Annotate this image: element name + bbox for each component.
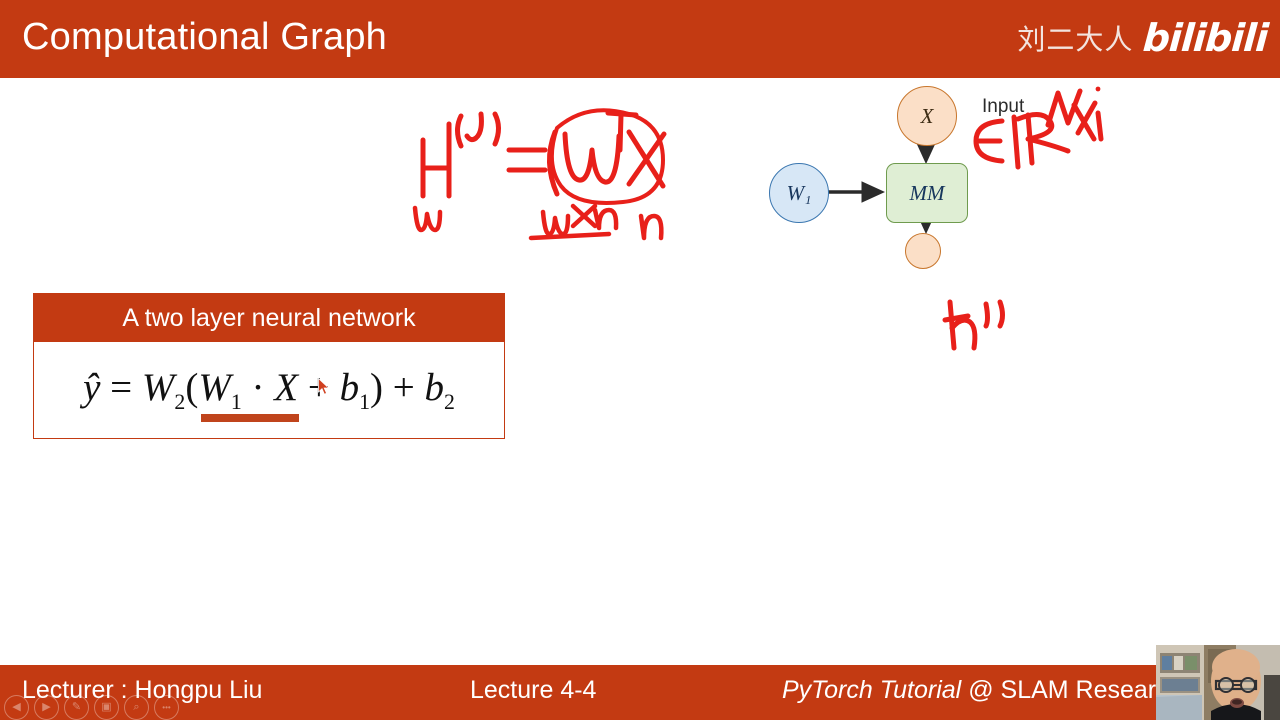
graph-node-w1[interactable]: W₁ xyxy=(769,163,829,223)
computational-graph: X W₁ MM Input xyxy=(760,78,1140,288)
presentation-controls[interactable]: ◀ ▶ ✎ ▣ ⌕ ••• xyxy=(4,695,179,720)
footer-course-title: PyTorch Tutorial @ SLAM Resear xyxy=(782,676,1156,705)
graph-node-mm[interactable]: MM xyxy=(886,163,968,223)
slide-overview-glyph: ▣ xyxy=(101,702,111,713)
graph-input-label: Input xyxy=(982,96,1024,118)
next-slide-icon[interactable]: ▶ xyxy=(34,695,59,720)
graph-node-x-label: X xyxy=(921,104,934,129)
callout-title: A two layer neural network xyxy=(122,304,415,333)
footer-lecture-number: Lecture 4-4 xyxy=(470,676,596,705)
mouse-cursor xyxy=(318,378,330,396)
slide-overview-icon[interactable]: ▣ xyxy=(94,695,119,720)
pen-tool-glyph: ✎ xyxy=(72,702,81,713)
two-layer-network-callout: A two layer neural network ŷ = W2(W1 · X… xyxy=(33,293,505,439)
handwritten-matrix-formula xyxy=(405,88,695,248)
more-options-icon[interactable]: ••• xyxy=(154,695,179,720)
webcam-video-frame xyxy=(1156,645,1280,720)
slide-footer-bar: Lecturer : Hongpu Liu Lecture 4-4 PyTorc… xyxy=(0,665,1280,720)
bilibili-logo: bilibili xyxy=(1142,19,1269,57)
graph-node-x[interactable]: X xyxy=(897,86,957,146)
graph-node-output[interactable] xyxy=(905,233,941,269)
zoom-tool-glyph: ⌕ xyxy=(133,702,139,713)
page-title: Computational Graph xyxy=(22,16,387,59)
footer-course-affiliation: @ SLAM Resear xyxy=(961,676,1156,704)
graph-node-w1-label: W₁ xyxy=(787,181,812,206)
pen-tool-icon[interactable]: ✎ xyxy=(64,695,89,720)
previous-slide-glyph: ◀ xyxy=(12,702,20,713)
more-options-glyph: ••• xyxy=(162,704,170,712)
footer-course-name: PyTorch Tutorial xyxy=(782,676,961,704)
network-formula: ŷ = W2(W1 · X + b1) + b2 xyxy=(83,365,455,415)
zoom-tool-icon[interactable]: ⌕ xyxy=(124,695,149,720)
handwritten-output-label xyxy=(942,296,1022,358)
webcam-overlay[interactable] xyxy=(1156,645,1280,720)
channel-branding: 刘二大人 bilibili xyxy=(1017,18,1268,58)
slide-canvas: X W₁ MM Input xyxy=(0,78,1280,665)
previous-slide-icon[interactable]: ◀ xyxy=(4,695,29,720)
channel-name: 刘二大人 xyxy=(1017,18,1133,58)
callout-header: A two layer neural network xyxy=(34,294,504,342)
callout-body: ŷ = W2(W1 · X + b1) + b2 xyxy=(34,342,504,438)
slide-header-bar: Computational Graph 刘二大人 bilibili xyxy=(0,0,1280,78)
graph-node-mm-label: MM xyxy=(910,181,945,206)
formula-emphasis-underline xyxy=(201,414,299,422)
next-slide-glyph: ▶ xyxy=(42,702,50,713)
